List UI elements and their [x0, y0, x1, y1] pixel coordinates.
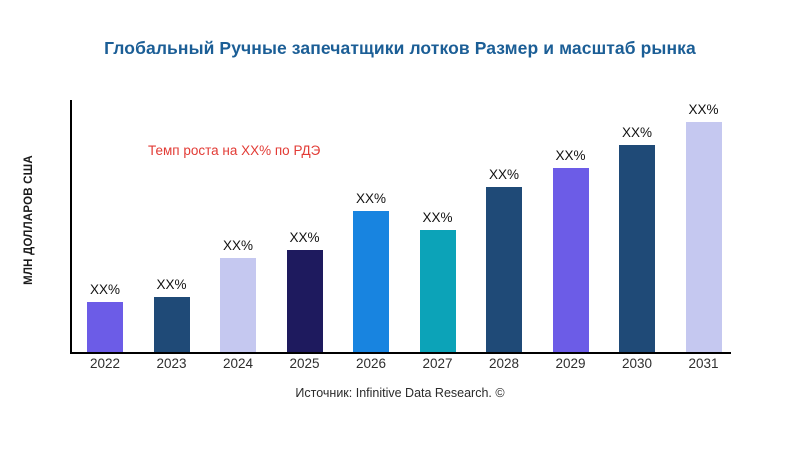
x-tick-label: 2027 — [404, 356, 472, 371]
x-axis-line — [70, 352, 731, 354]
bar-value-label: XX% — [289, 230, 319, 245]
source-caption: Источник: Infinitive Data Research. © — [0, 386, 800, 400]
bar[interactable] — [486, 187, 522, 352]
bar-group: XX% — [470, 100, 538, 352]
x-tick-label: 2031 — [670, 356, 738, 371]
bar-group: XX% — [404, 100, 472, 352]
bar-group: XX% — [71, 100, 139, 352]
bar-group: XX% — [537, 100, 605, 352]
bar[interactable] — [287, 250, 323, 352]
bar[interactable] — [420, 230, 456, 352]
bar-group: XX% — [670, 100, 738, 352]
x-axis-tick-labels: 2022202320242025202620272028202920302031 — [70, 356, 800, 382]
x-tick-label: 2028 — [470, 356, 538, 371]
x-tick-label: 2024 — [204, 356, 272, 371]
bar[interactable] — [353, 211, 389, 352]
bar-group: XX% — [337, 100, 405, 352]
x-tick-label: 2026 — [337, 356, 405, 371]
x-tick-label: 2025 — [271, 356, 339, 371]
bar-group: XX% — [204, 100, 272, 352]
bar-value-label: XX% — [422, 210, 452, 225]
x-tick-label: 2022 — [71, 356, 139, 371]
bar-value-label: XX% — [622, 125, 652, 140]
bar[interactable] — [220, 258, 256, 352]
bar-group: XX% — [138, 100, 206, 352]
bar-value-label: XX% — [356, 191, 386, 206]
bar-value-label: XX% — [223, 238, 253, 253]
x-tick-label: 2030 — [603, 356, 671, 371]
y-axis-title-container: МЛН ДОЛЛАРОВ США — [18, 95, 40, 345]
bar[interactable] — [553, 168, 589, 352]
plot-area: XX%XX%XX%XX%XX%XX%XX%XX%XX%XX% — [70, 100, 800, 352]
bar-group: XX% — [603, 100, 671, 352]
bar-value-label: XX% — [156, 277, 186, 292]
bar-value-label: XX% — [688, 102, 718, 117]
bar[interactable] — [154, 297, 190, 352]
bar[interactable] — [686, 122, 722, 352]
bar[interactable] — [87, 302, 123, 352]
bar-group: XX% — [271, 100, 339, 352]
market-size-bar-chart: Глобальный Ручные запечатщики лотков Раз… — [0, 0, 800, 450]
y-axis-title: МЛН ДОЛЛАРОВ США — [23, 155, 35, 285]
growth-rate-annotation: Темп роста на XX% по РДЭ — [148, 143, 320, 158]
x-tick-label: 2023 — [138, 356, 206, 371]
x-tick-label: 2029 — [537, 356, 605, 371]
bar-value-label: XX% — [489, 167, 519, 182]
bar[interactable] — [619, 145, 655, 352]
bar-value-label: XX% — [555, 148, 585, 163]
bar-value-label: XX% — [90, 282, 120, 297]
chart-title: Глобальный Ручные запечатщики лотков Раз… — [0, 38, 800, 59]
